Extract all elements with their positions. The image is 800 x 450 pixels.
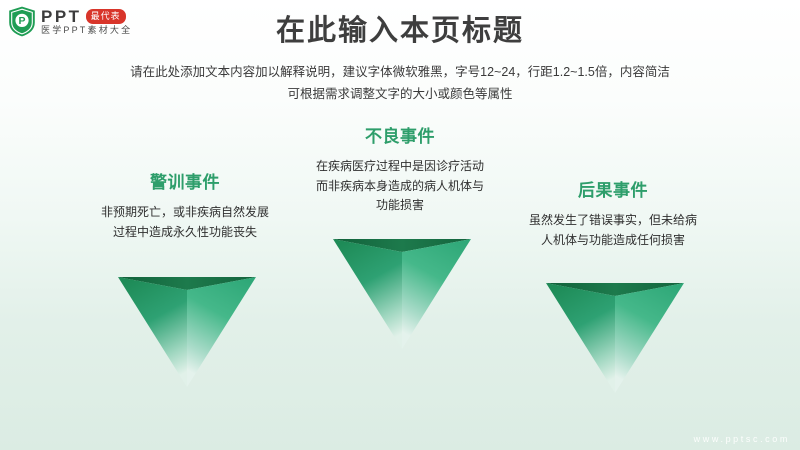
page-subtitle: 请在此处添加文本内容加以解释说明，建议字体微软雅黑，字号12~24，行距1.2~… — [0, 62, 800, 105]
content-column-2: 不良事件 在疾病医疗过程中是因诊疗活动而非疾病本身造成的病人机体与功能损害 — [300, 126, 500, 215]
content-column-1: 警训事件 非预期死亡，或非疾病自然发展过程中造成永久性功能丧失 — [85, 172, 285, 242]
site-watermark: www.pptsc.com — [694, 434, 790, 444]
column-heading-2: 不良事件 — [300, 126, 500, 148]
subtitle-line-1: 请在此处添加文本内容加以解释说明，建议字体微软雅黑，字号12~24，行距1.2~… — [0, 62, 800, 84]
column-body-3: 虽然发生了错误事实，但未给病人机体与功能造成任何损害 — [513, 211, 713, 250]
pyramid-3 — [546, 281, 684, 393]
column-body-1: 非预期死亡，或非疾病自然发展过程中造成永久性功能丧失 — [85, 203, 285, 242]
column-heading-3: 后果事件 — [513, 180, 713, 202]
content-column-3: 后果事件 虽然发生了错误事实，但未给病人机体与功能造成任何损害 — [513, 180, 713, 250]
column-heading-1: 警训事件 — [85, 172, 285, 194]
slide-canvas: P PPT 最代表 医学PPT素材大全 在此输入本页标题 请在此处添加文本内容加… — [0, 0, 800, 450]
column-body-2: 在疾病医疗过程中是因诊疗活动而非疾病本身造成的病人机体与功能损害 — [300, 157, 500, 215]
page-title: 在此输入本页标题 — [0, 14, 800, 49]
pyramid-1 — [118, 275, 256, 387]
subtitle-line-2: 可根据需求调整文字的大小或颜色等属性 — [0, 84, 800, 106]
pyramid-2 — [333, 237, 471, 349]
